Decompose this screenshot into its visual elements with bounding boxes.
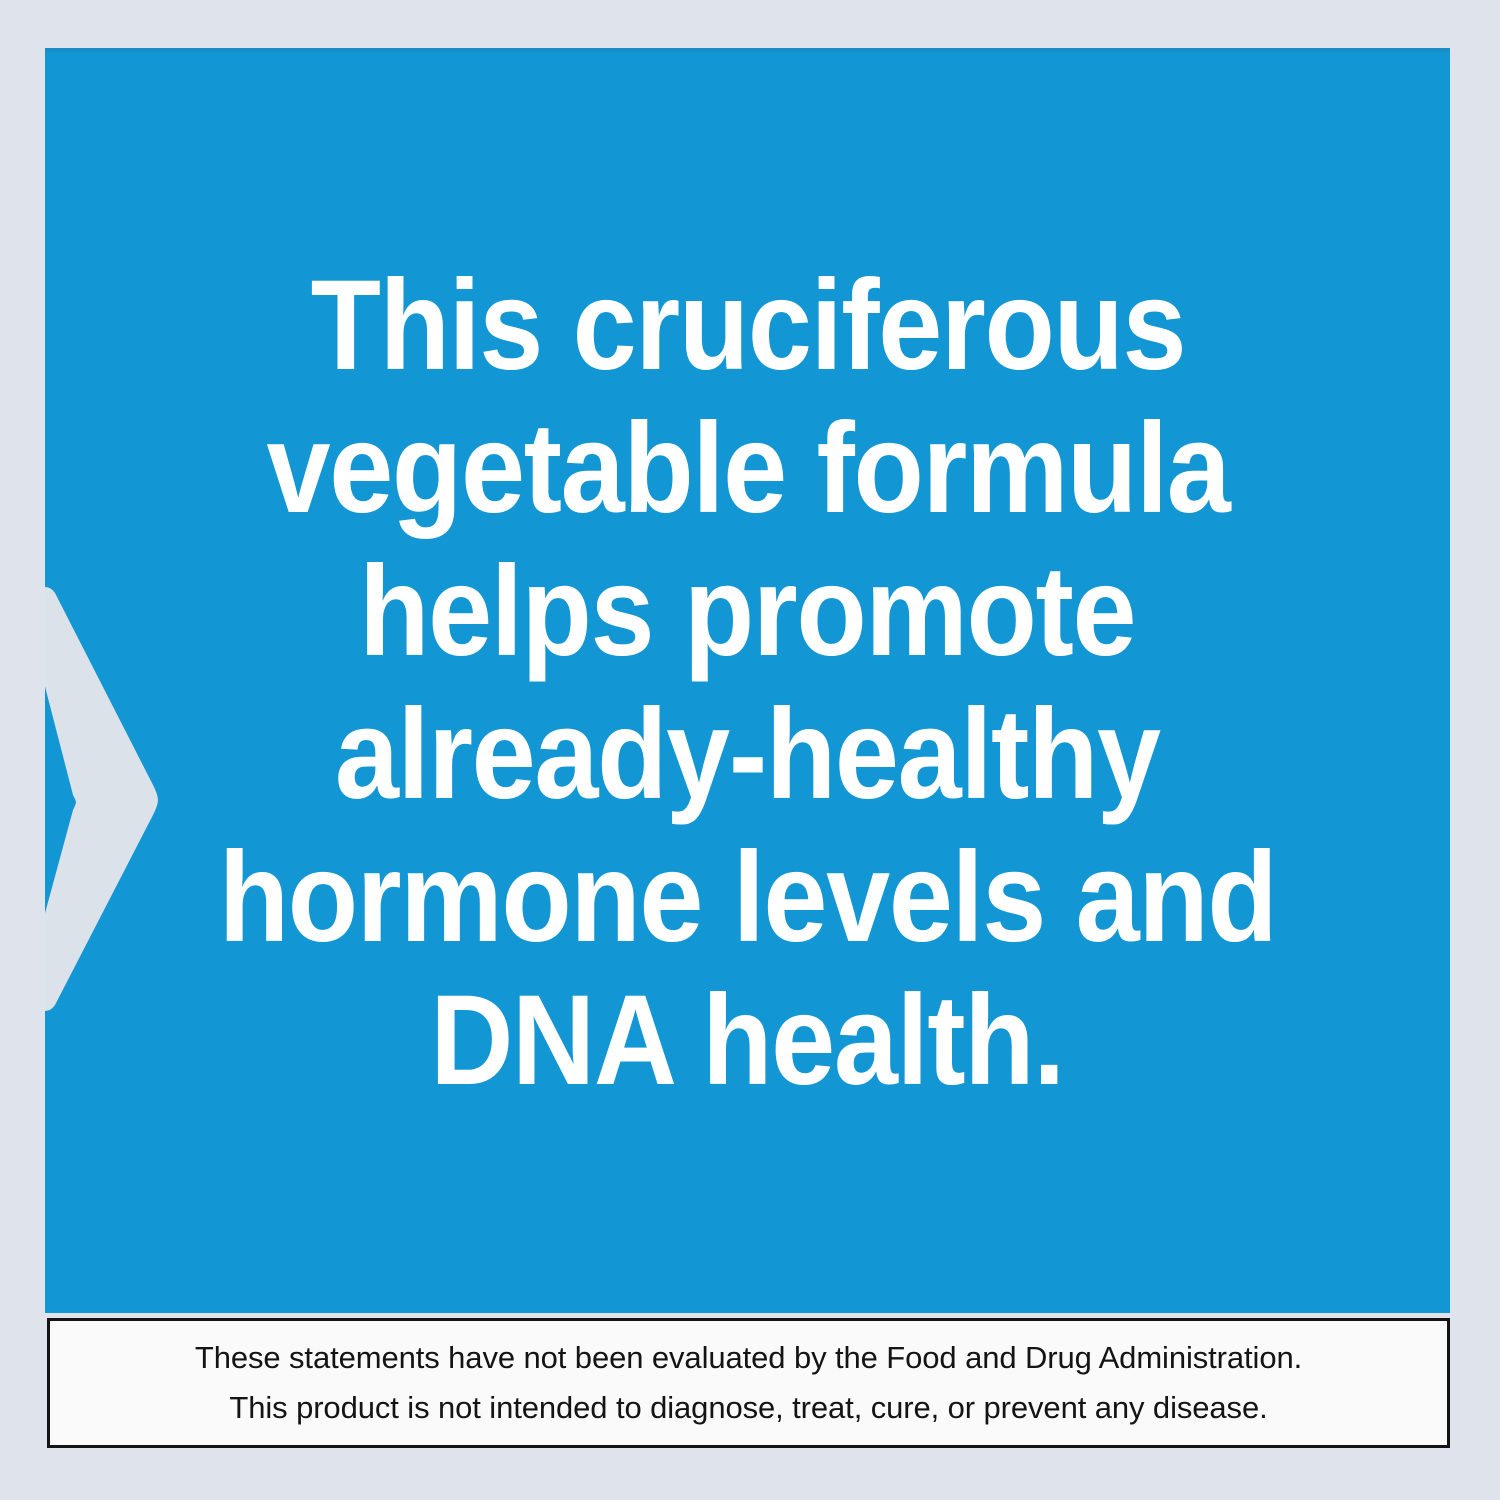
product-callout-card: This cruciferous vegetable formula helps… [0, 0, 1500, 1500]
fda-disclaimer-line-1: These statements have not been evaluated… [195, 1333, 1302, 1383]
headline-line-6: DNA health. [431, 969, 1065, 1112]
headline-line-5: hormone levels and [219, 826, 1277, 969]
headline-line-3: helps promote [359, 540, 1135, 683]
headline-line-2: vegetable formula [266, 397, 1229, 540]
headline-line-1: This cruciferous [310, 254, 1185, 397]
hero-panel: This cruciferous vegetable formula helps… [45, 48, 1450, 1313]
fda-disclaimer-box: These statements have not been evaluated… [47, 1318, 1450, 1448]
headline-block: This cruciferous vegetable formula helps… [45, 48, 1450, 1313]
headline-line-4: already-healthy [335, 683, 1160, 826]
fda-disclaimer-line-2: This product is not intended to diagnose… [229, 1383, 1267, 1433]
